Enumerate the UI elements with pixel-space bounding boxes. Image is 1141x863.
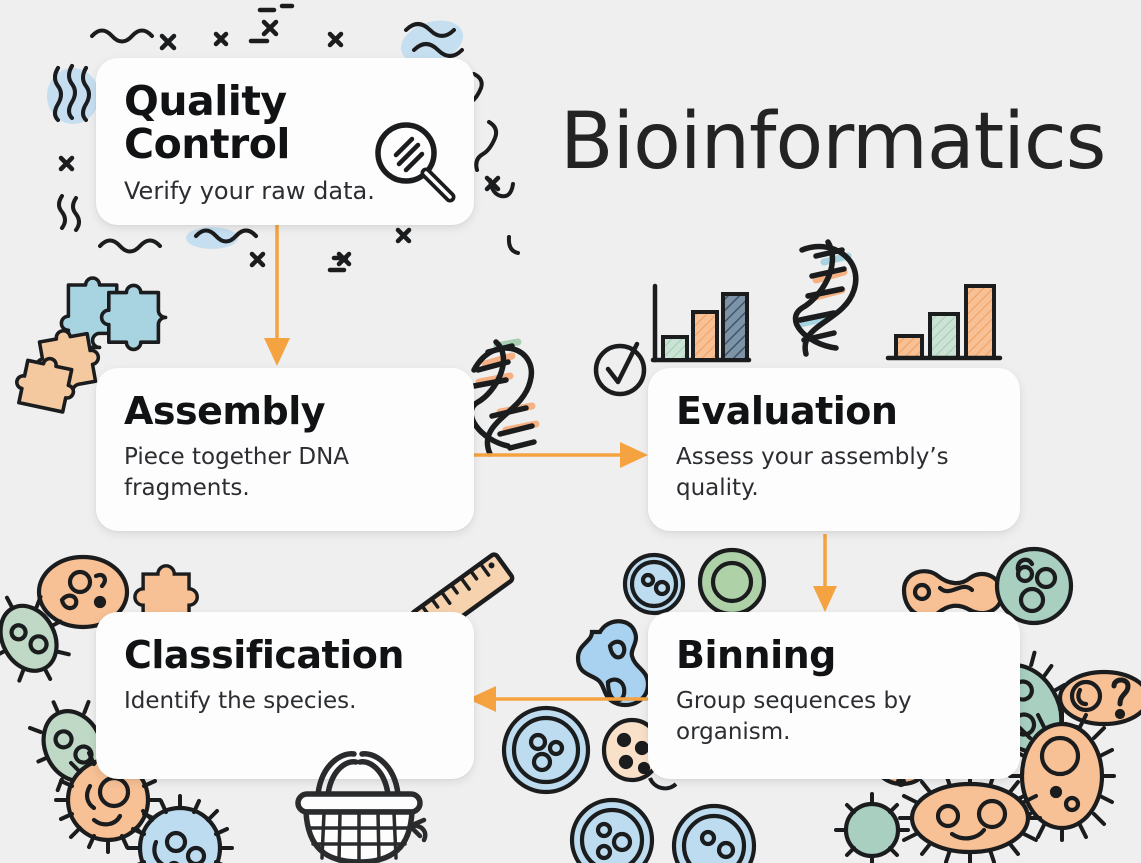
card-title-assembly: Assembly bbox=[124, 392, 446, 432]
card-assembly[interactable]: Assembly Piece together DNA fragments. bbox=[96, 368, 474, 531]
bar-chart-right-icon bbox=[884, 278, 1002, 368]
bar-chart-left-icon bbox=[645, 276, 765, 371]
card-title-classification: Classification bbox=[124, 636, 446, 676]
arrow-assembly-to-evaluation bbox=[466, 440, 652, 474]
card-desc-evaluation: Assess your assembly’s quality. bbox=[676, 442, 992, 504]
card-desc-assembly: Piece together DNA fragments. bbox=[124, 442, 446, 504]
card-title-evaluation: Evaluation bbox=[676, 392, 992, 432]
card-quality-control[interactable]: Quality Control Verify your raw data. bbox=[96, 58, 474, 225]
card-binning[interactable]: Binning Group sequences by organism. bbox=[648, 612, 1020, 779]
card-evaluation[interactable]: Evaluation Assess your assembly’s qualit… bbox=[648, 368, 1020, 531]
card-title-binning: Binning bbox=[676, 636, 992, 676]
card-classification[interactable]: Classification Identify the species. bbox=[96, 612, 474, 779]
dna-helix-right-decoration bbox=[772, 236, 892, 361]
card-desc-binning: Group sequences by organism. bbox=[676, 686, 992, 748]
arrow-quality-control-to-assembly bbox=[262, 218, 292, 374]
check-circle-icon bbox=[590, 336, 652, 398]
page-title: Bioinformatics bbox=[560, 97, 1105, 187]
arrow-binning-to-classification bbox=[466, 684, 652, 718]
arrow-evaluation-to-binning bbox=[810, 534, 840, 620]
magnifier-icon bbox=[366, 119, 458, 213]
infographic-canvas: Bioinformatics Quality Control Verify yo… bbox=[0, 0, 1141, 863]
card-desc-classification: Identify the species. bbox=[124, 686, 446, 717]
